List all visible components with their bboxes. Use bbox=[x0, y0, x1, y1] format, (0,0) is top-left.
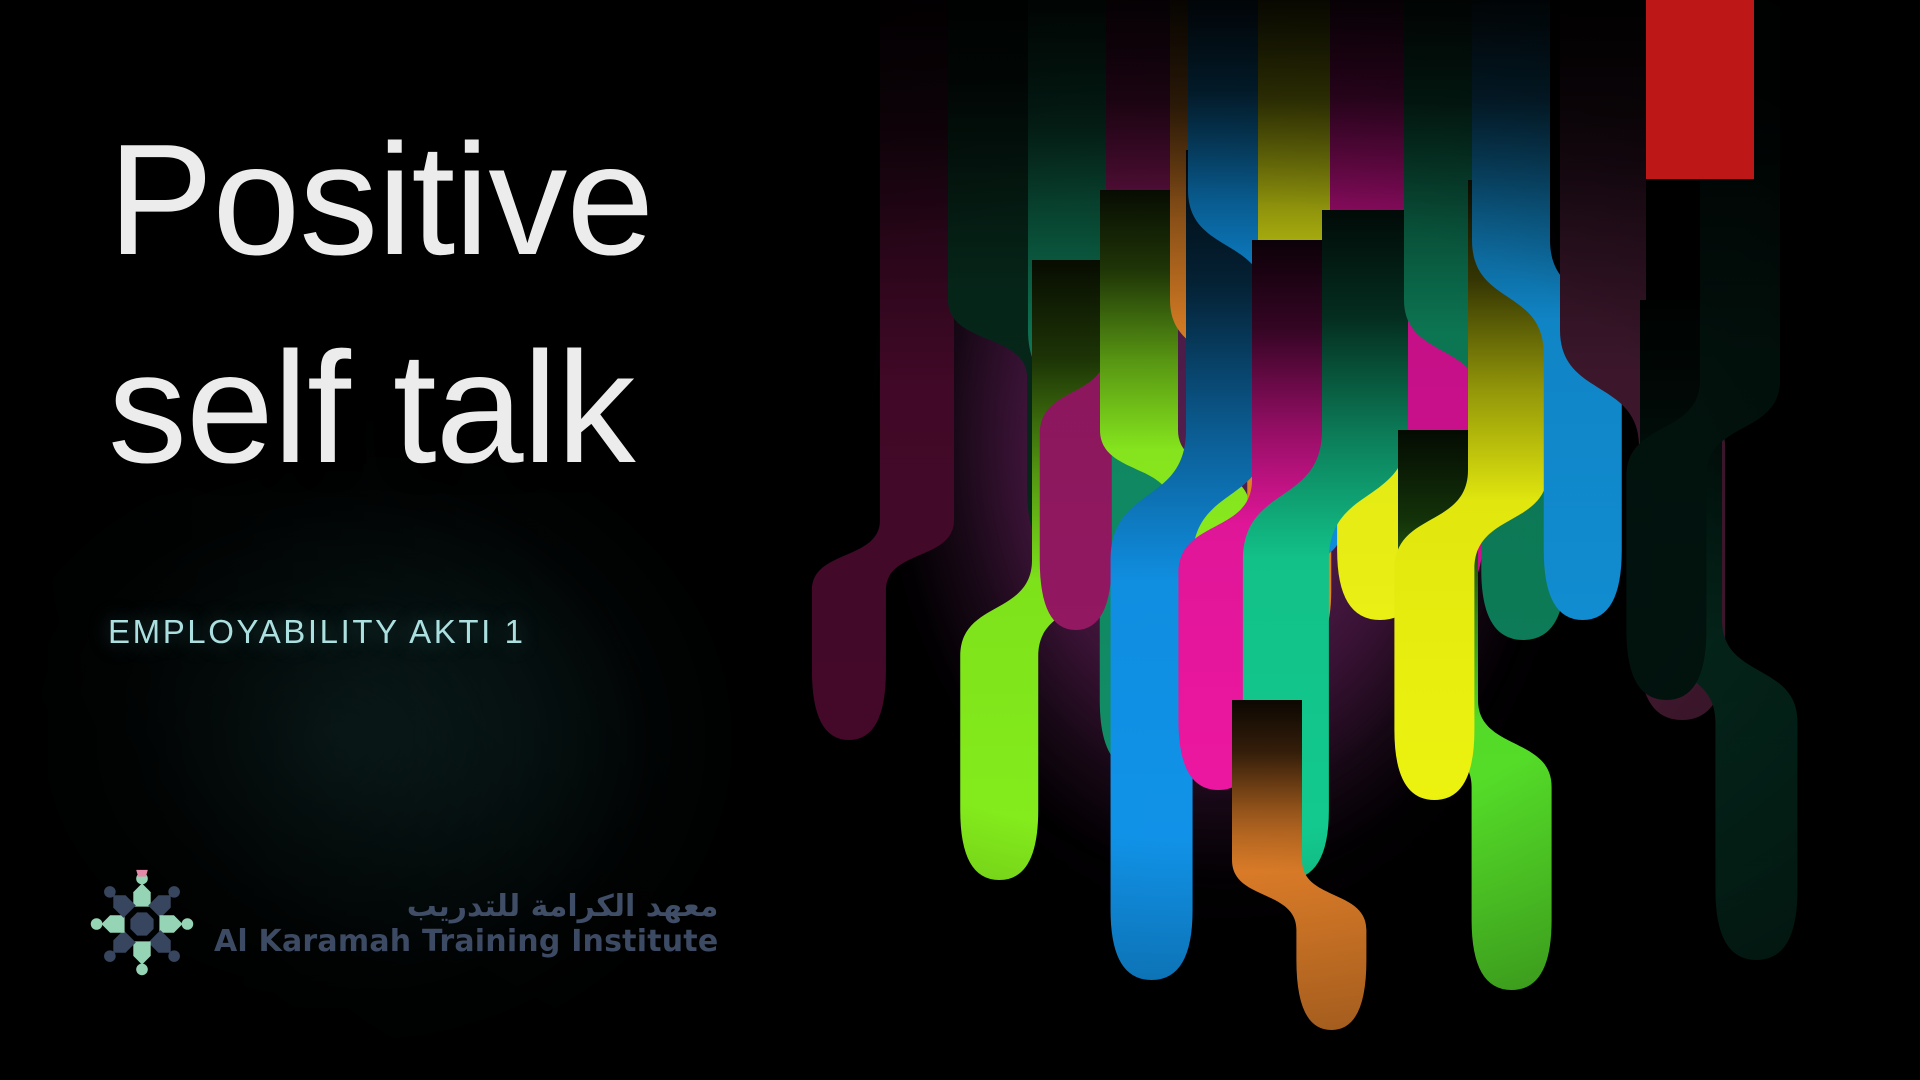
logo-english-name: Al Karamah Training Institute bbox=[214, 925, 718, 959]
ribbon-magenta-far-left bbox=[812, 0, 954, 740]
logo-pink-accent bbox=[136, 870, 148, 877]
logo-petal-dot-4 bbox=[136, 964, 148, 976]
logo-petal-6 bbox=[101, 915, 124, 932]
logo-center-octagon bbox=[130, 912, 153, 935]
slide-subtitle: EMPLOYABILITY AKTI 1 bbox=[108, 613, 526, 651]
logo-petal-0 bbox=[133, 883, 150, 906]
logo-petal-2 bbox=[159, 915, 182, 932]
logo-text-block: معهد الكرامة للتدريب Al Karamah Training… bbox=[214, 889, 718, 959]
ribbon-orange-2 bbox=[1232, 700, 1366, 1030]
title-block: Positive self talk bbox=[108, 96, 828, 512]
logo-petal-4 bbox=[133, 941, 150, 964]
logo-arabic-name: معهد الكرامة للتدريب bbox=[214, 889, 718, 924]
al-karamah-star-icon bbox=[84, 866, 200, 982]
red-accent-bar bbox=[1646, 0, 1754, 179]
logo-lockup: معهد الكرامة للتدريب Al Karamah Training… bbox=[84, 866, 718, 982]
page-title: Positive self talk bbox=[108, 96, 828, 512]
logo-petal-dot-6 bbox=[91, 918, 103, 930]
logo-petal-dot-2 bbox=[182, 918, 194, 930]
slide-canvas: Positive self talk EMPLOYABILITY AKTI 1 … bbox=[0, 0, 1920, 1080]
